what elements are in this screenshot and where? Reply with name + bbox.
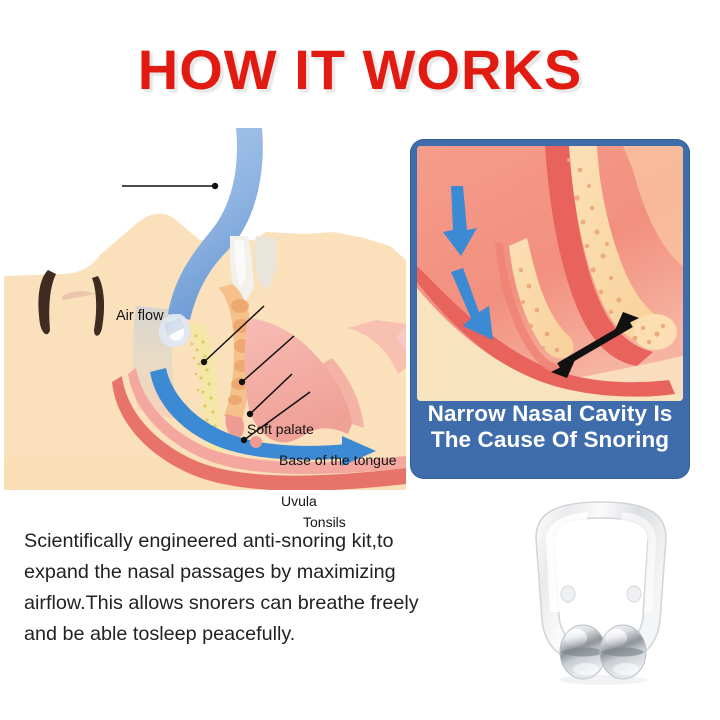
turbinate-bulb — [633, 314, 677, 350]
turbinate-illustration-svg — [417, 146, 683, 401]
description-line-1: Scientifically engineered anti-snoring k… — [24, 526, 492, 557]
label-air-flow: Air flow — [116, 309, 164, 324]
magnet-ball-right — [600, 625, 646, 679]
nasal-turbinate-closeup — [417, 146, 683, 401]
magnet-ball-left — [560, 625, 606, 679]
tonsil-node — [250, 436, 262, 448]
label-soft-palate: Soft palate — [247, 422, 314, 436]
product-reflection — [559, 675, 647, 685]
product-description: Scientifically engineered anti-snoring k… — [24, 526, 492, 650]
nose-clip-svg — [506, 494, 696, 686]
airway-illustration-svg — [4, 128, 406, 490]
magnetic-silicone-anti-snoring-nose-clip — [506, 494, 696, 686]
sagittal-head-airway-diagram: Air flow Soft palate Base of the tongue … — [4, 128, 406, 490]
clip-aperture — [562, 526, 640, 638]
page-title: HOW IT WORKS — [0, 42, 720, 98]
inset-caption: Narrow Nasal Cavity Is The Cause Of Snor… — [410, 401, 690, 453]
narrow-nasal-cavity-inset: Narrow Nasal Cavity Is The Cause Of Snor… — [410, 139, 690, 479]
inset-caption-line-2: The Cause Of Snoring — [410, 427, 690, 453]
inset-caption-line-1: Narrow Nasal Cavity Is — [410, 401, 690, 427]
clip-nub-left — [561, 586, 575, 602]
description-line-3: airflow.This allows snorers can breathe … — [24, 588, 492, 619]
clip-nub-right — [627, 586, 641, 602]
how-it-works-infographic: HOW IT WORKS — [0, 0, 720, 720]
label-uvula: Uvula — [281, 494, 317, 508]
description-line-2: expand the nasal passages by maximizing — [24, 557, 492, 588]
label-base-of-tongue: Base of the tongue — [279, 453, 397, 467]
description-line-4: and be able tosleep peacefully. — [24, 619, 492, 650]
